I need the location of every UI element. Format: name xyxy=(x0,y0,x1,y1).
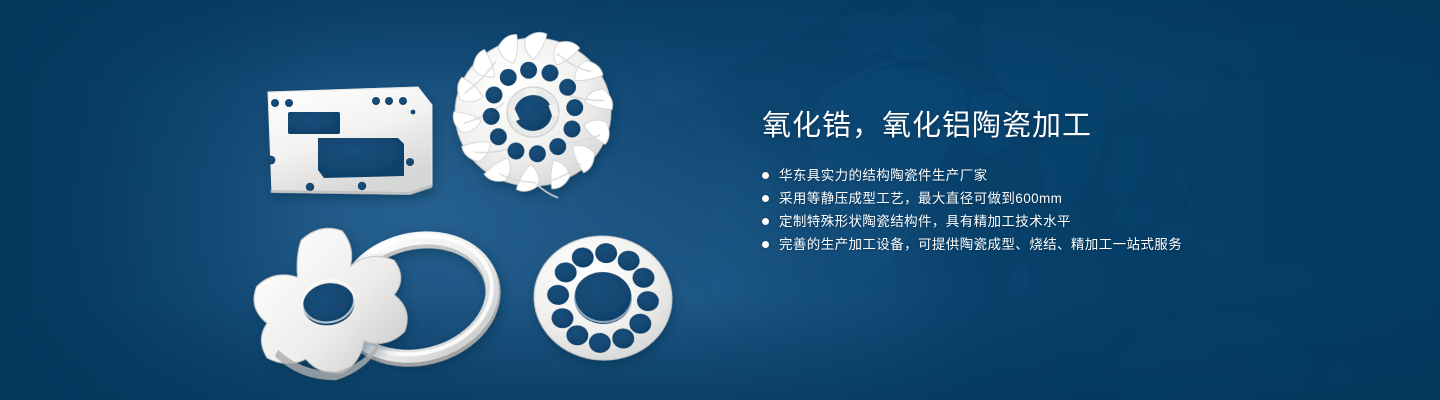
page-title: 氧化锆，氧化铝陶瓷加工 xyxy=(762,106,1362,146)
bullet-dot-icon xyxy=(762,241,769,248)
bullet-dot-icon xyxy=(762,195,769,202)
feature-text: 采用等静压成型工艺，最大直径可做到600mm xyxy=(779,187,1062,210)
ceramic-impeller-part xyxy=(444,23,623,208)
ceramic-perforated-disc-part xyxy=(530,231,676,366)
ceramic-plate-part xyxy=(267,87,432,195)
feature-text: 华东具实力的结构陶瓷件生产厂家 xyxy=(779,164,988,187)
feature-text: 定制特殊形状陶瓷结构件，具有精加工技术水平 xyxy=(779,210,1071,233)
list-item: 完善的生产加工设备，可提供陶瓷成型、烧结、精加工一站式服务 xyxy=(762,233,1362,256)
feature-text: 完善的生产加工设备，可提供陶瓷成型、烧结、精加工一站式服务 xyxy=(779,233,1182,256)
bullet-dot-icon xyxy=(762,218,769,225)
ceramic-products-image xyxy=(0,0,760,400)
feature-list: 华东具实力的结构陶瓷件生产厂家 采用等静压成型工艺，最大直径可做到600mm 定… xyxy=(762,164,1362,256)
bullet-dot-icon xyxy=(762,172,769,179)
ceramic-processing-banner: 氧化锆，氧化铝陶瓷加工 华东具实力的结构陶瓷件生产厂家 采用等静压成型工艺，最大… xyxy=(0,0,1440,400)
list-item: 华东具实力的结构陶瓷件生产厂家 xyxy=(762,164,1362,187)
banner-copy: 氧化锆，氧化铝陶瓷加工 华东具实力的结构陶瓷件生产厂家 采用等静压成型工艺，最大… xyxy=(762,106,1362,256)
list-item: 定制特殊形状陶瓷结构件，具有精加工技术水平 xyxy=(762,210,1362,233)
list-item: 采用等静压成型工艺，最大直径可做到600mm xyxy=(762,187,1362,210)
